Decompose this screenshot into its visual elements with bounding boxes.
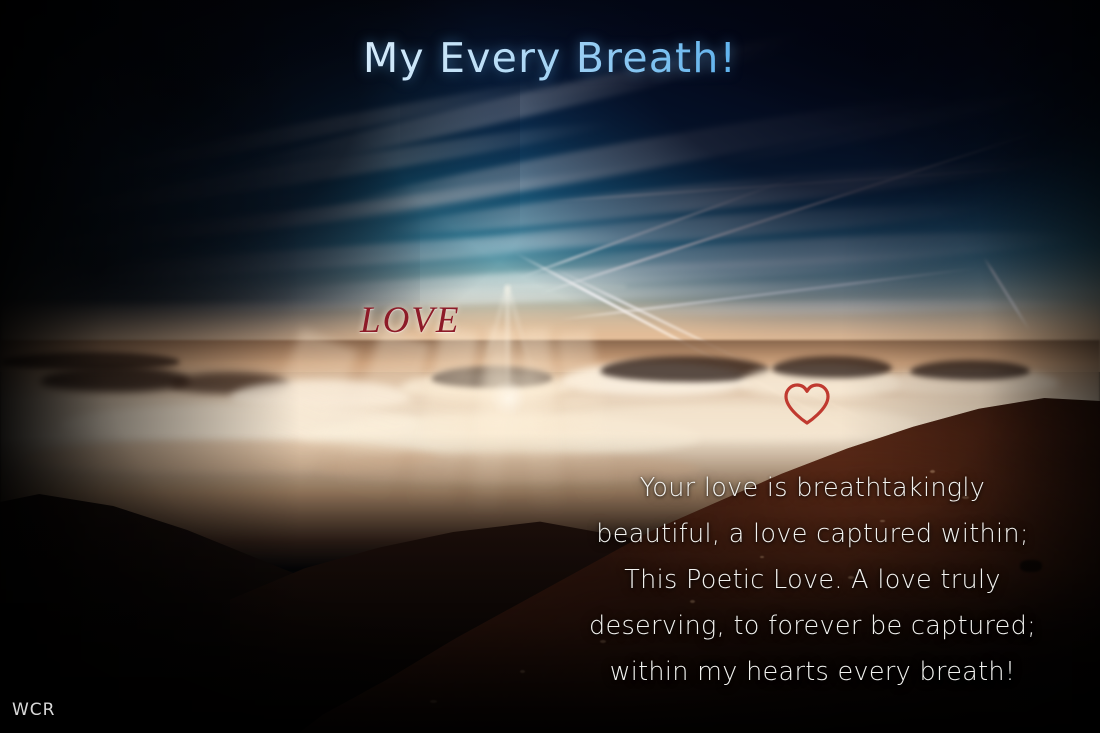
poem-line: within my hearts every breath! <box>540 649 1085 695</box>
poem-line: Your love is breathtakingly <box>540 465 1085 511</box>
poetry-image-canvas: My Every Breath! LOVE Your love is breat… <box>0 0 1100 733</box>
love-accent-word: LOVE <box>360 299 461 342</box>
heart-outline-icon <box>783 382 831 426</box>
poem-line: beautiful, a love captured within; <box>540 511 1085 557</box>
watermark-signature: WCR <box>12 700 56 720</box>
page-title: My Every Breath! <box>0 34 1100 82</box>
poem-text: Your love is breathtakingly beautiful, a… <box>540 465 1085 695</box>
poem-line: This Poetic Love. A love truly <box>540 557 1085 603</box>
poem-line: deserving, to forever be captured; <box>540 603 1085 649</box>
